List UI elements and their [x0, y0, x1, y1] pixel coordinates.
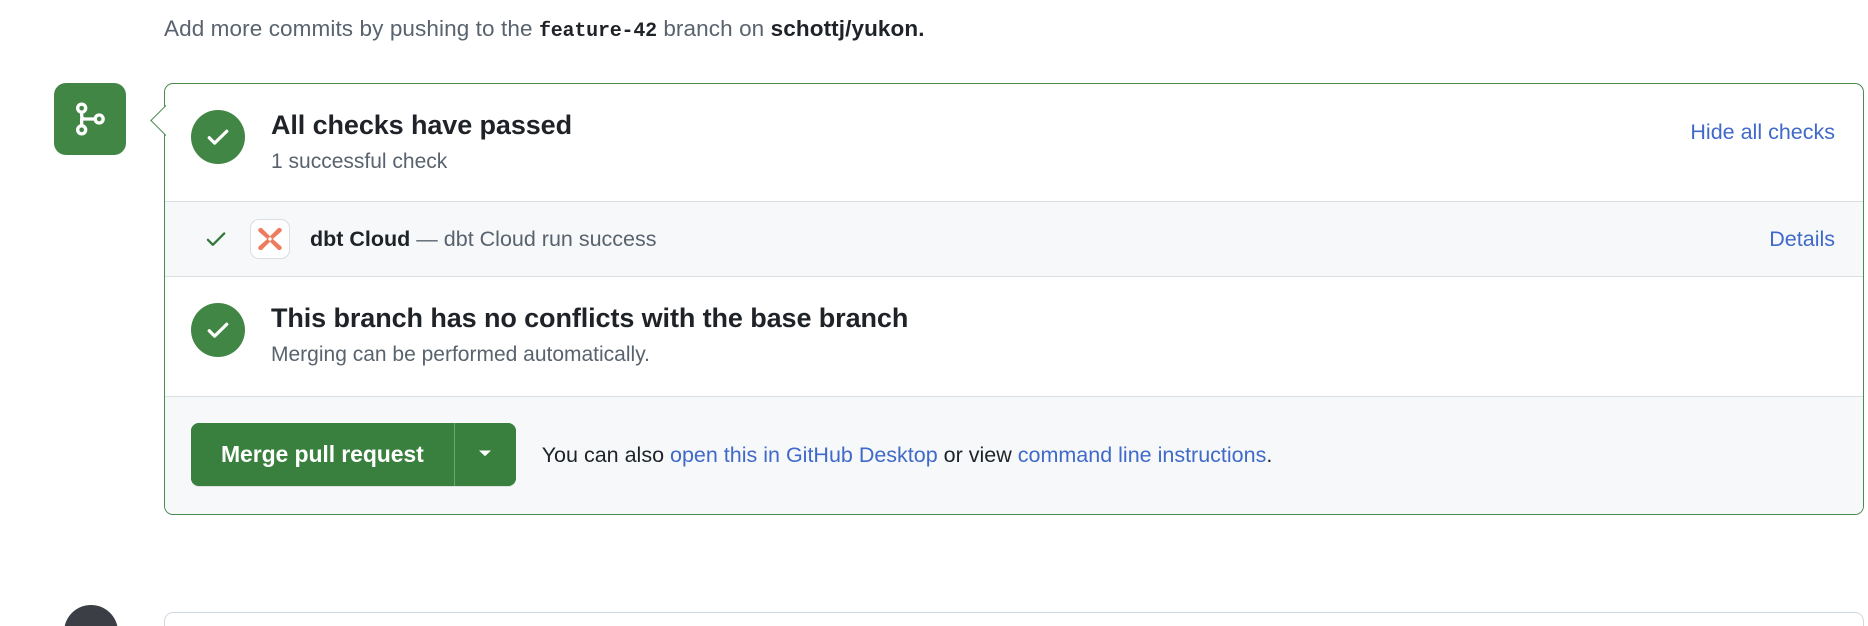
dbt-cloud-logo — [250, 219, 290, 259]
push-notice-middle: branch on — [657, 16, 771, 41]
conflicts-success-icon — [191, 303, 245, 357]
push-notice-suffix: . — [918, 16, 924, 41]
conflicts-section: This branch has no conflicts with the ba… — [165, 277, 1863, 396]
merge-action-footer: Merge pull request You can also open thi… — [165, 396, 1863, 514]
check-details-link[interactable]: Details — [1769, 227, 1835, 252]
merge-status-box: All checks have passed 1 successful chec… — [164, 83, 1864, 515]
conflicts-text: This branch has no conflicts with the ba… — [271, 301, 908, 370]
merge-pull-request-button[interactable]: Merge pull request — [191, 423, 454, 486]
checks-subtitle: 1 successful check — [271, 147, 1690, 177]
git-merge-icon — [54, 83, 126, 155]
check-success-icon — [202, 225, 230, 253]
checks-title: All checks have passed — [271, 108, 1690, 142]
repository-name: schottj/yukon — [771, 16, 919, 41]
box-pointer-caret — [150, 104, 166, 136]
push-commits-notice: Add more commits by pushing to the featu… — [164, 14, 925, 47]
check-separator: — — [416, 227, 438, 251]
next-timeline-box — [164, 612, 1864, 626]
conflicts-title: This branch has no conflicts with the ba… — [271, 301, 908, 335]
conflicts-subtitle: Merging can be performed automatically. — [271, 340, 908, 370]
check-row-label: dbt Cloud — dbt Cloud run success — [310, 224, 1769, 254]
merge-pull-request-panel: Add more commits by pushing to the featu… — [0, 0, 1868, 626]
avatar — [64, 605, 118, 626]
push-notice-prefix: Add more commits by pushing to the — [164, 16, 539, 41]
command-line-instructions-link[interactable]: command line instructions — [1018, 443, 1267, 467]
check-context: dbt Cloud — [310, 227, 410, 251]
check-description: dbt Cloud run success — [444, 227, 657, 251]
checks-header-text: All checks have passed 1 successful chec… — [271, 108, 1690, 177]
chevron-down-icon — [475, 443, 495, 466]
hide-all-checks-link[interactable]: Hide all checks — [1690, 117, 1835, 147]
branch-name: feature-42 — [539, 20, 657, 43]
github-desktop-link[interactable]: open this in GitHub Desktop — [670, 443, 938, 467]
checks-success-icon — [191, 110, 245, 164]
check-row: dbt Cloud — dbt Cloud run success Detail… — [165, 201, 1863, 277]
merge-options-dropdown-button[interactable] — [454, 423, 516, 486]
checks-summary-header: All checks have passed 1 successful chec… — [165, 84, 1863, 201]
merge-button-group: Merge pull request — [191, 423, 516, 486]
merge-alternatives-note: You can also open this in GitHub Desktop… — [542, 440, 1273, 470]
note-suffix: . — [1266, 443, 1272, 467]
note-middle: or view — [938, 443, 1018, 467]
note-prefix: You can also — [542, 443, 670, 467]
